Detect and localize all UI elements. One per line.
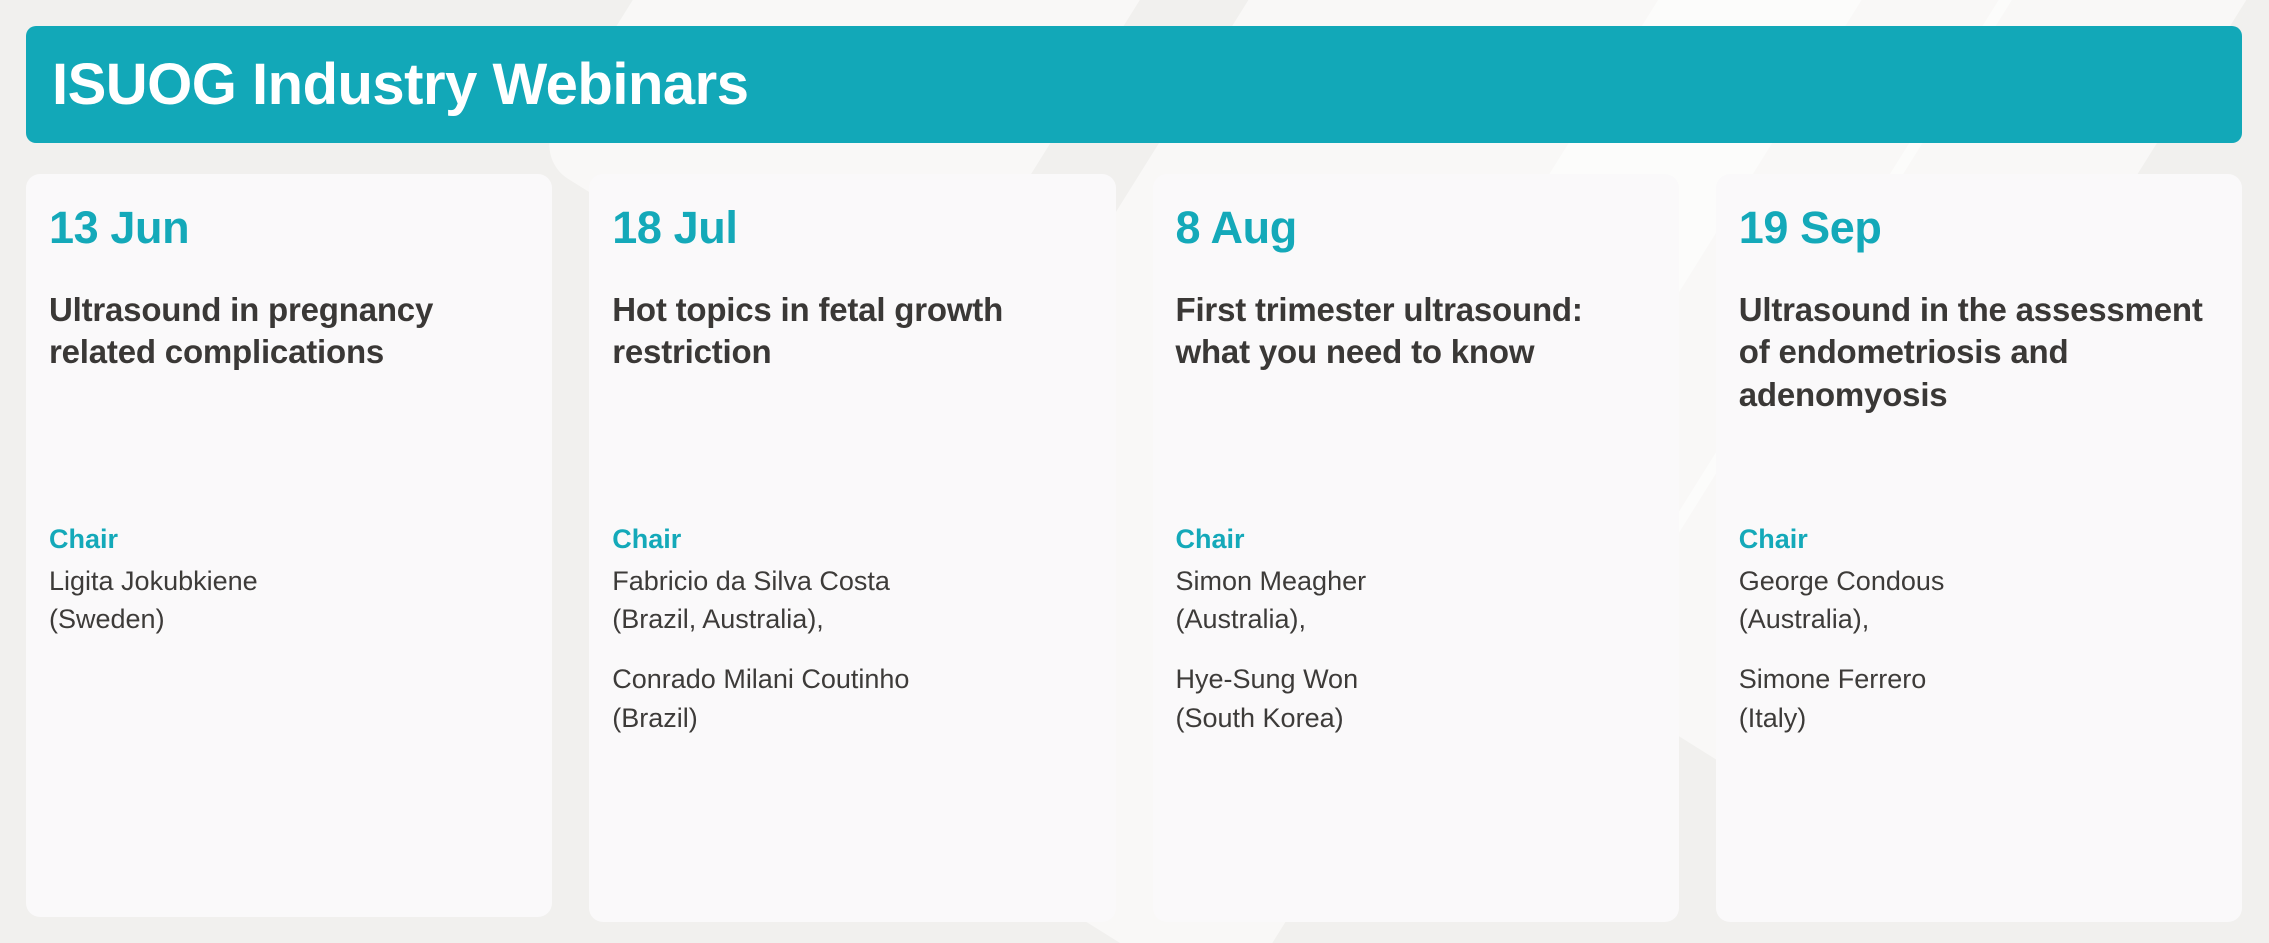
chair-person: Hye-Sung Won (South Korea) <box>1176 660 1655 737</box>
webinar-card[interactable]: 13 Jun Ultrasound in pregnancy related c… <box>26 174 552 917</box>
webinar-date: 8 Aug <box>1176 204 1655 251</box>
chair-block: Chair Fabricio da Silva Costa (Brazil, A… <box>612 521 1091 737</box>
chair-person: Simone Ferrero (Italy) <box>1739 660 2218 737</box>
chair-country: (Italy) <box>1739 699 2218 737</box>
chair-name: Conrado Milani Coutinho <box>612 660 1091 698</box>
webinar-card-list: 13 Jun Ultrasound in pregnancy related c… <box>26 174 2242 922</box>
chair-country: (Brazil, Australia), <box>612 600 1091 638</box>
webinar-title: Hot topics in fetal growth restriction <box>612 289 1091 497</box>
webinar-date: 19 Sep <box>1739 204 2218 251</box>
chair-person: Conrado Milani Coutinho (Brazil) <box>612 660 1091 737</box>
webinars-page: ISUOG Industry Webinars 13 Jun Ultrasoun… <box>0 0 2269 943</box>
chair-person: Simon Meagher (Australia), <box>1176 562 1655 639</box>
webinar-title: Ultrasound in pregnancy related complica… <box>49 289 528 497</box>
webinar-card[interactable]: 19 Sep Ultrasound in the assessment of e… <box>1716 174 2242 922</box>
chair-person: George Condous (Australia), <box>1739 562 2218 639</box>
chair-block: Chair Ligita Jokubkiene (Sweden) <box>49 521 528 638</box>
header-banner: ISUOG Industry Webinars <box>26 26 2242 143</box>
chair-name: Fabricio da Silva Costa <box>612 562 1091 600</box>
webinar-title: Ultrasound in the assessment of endometr… <box>1739 289 2218 497</box>
chair-name: George Condous <box>1739 562 2218 600</box>
chair-name: Ligita Jokubkiene <box>49 562 528 600</box>
page-title: ISUOG Industry Webinars <box>52 56 748 114</box>
webinar-title: First trimester ultrasound: what you nee… <box>1176 289 1655 497</box>
chair-person: Ligita Jokubkiene (Sweden) <box>49 562 528 639</box>
chair-label: Chair <box>612 521 1091 557</box>
chair-country: (Brazil) <box>612 699 1091 737</box>
chair-country: (Sweden) <box>49 600 528 638</box>
chair-label: Chair <box>49 521 528 557</box>
chair-name: Hye-Sung Won <box>1176 660 1655 698</box>
webinar-card[interactable]: 18 Jul Hot topics in fetal growth restri… <box>589 174 1115 922</box>
webinar-date: 13 Jun <box>49 204 528 251</box>
chair-name: Simone Ferrero <box>1739 660 2218 698</box>
chair-name: Simon Meagher <box>1176 562 1655 600</box>
chair-label: Chair <box>1176 521 1655 557</box>
webinar-date: 18 Jul <box>612 204 1091 251</box>
chair-block: Chair Simon Meagher (Australia), Hye-Sun… <box>1176 521 1655 737</box>
chair-label: Chair <box>1739 521 2218 557</box>
chair-country: (South Korea) <box>1176 699 1655 737</box>
webinar-card[interactable]: 8 Aug First trimester ultrasound: what y… <box>1153 174 1679 922</box>
chair-block: Chair George Condous (Australia), Simone… <box>1739 521 2218 737</box>
chair-country: (Australia), <box>1176 600 1655 638</box>
chair-person: Fabricio da Silva Costa (Brazil, Austral… <box>612 562 1091 639</box>
chair-country: (Australia), <box>1739 600 2218 638</box>
